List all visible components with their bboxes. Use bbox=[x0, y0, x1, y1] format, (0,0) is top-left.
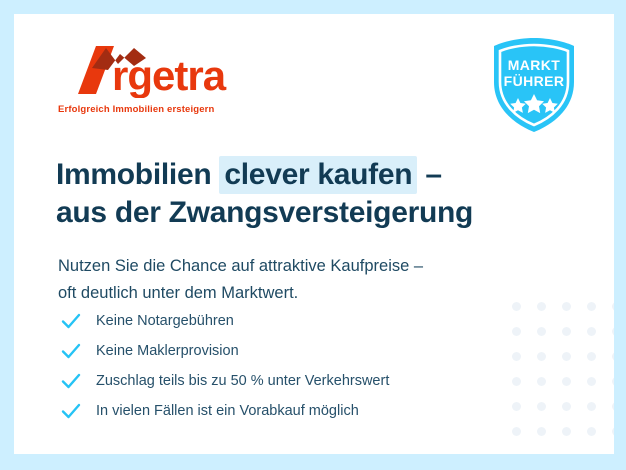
subheading-line-2: oft deutlich unter dem Marktwert. bbox=[58, 280, 578, 307]
argetra-logo-mark: rgetra bbox=[56, 42, 246, 98]
promo-frame: rgetra Erfolgreich Immobilien ersteigern… bbox=[0, 0, 626, 470]
dot bbox=[562, 327, 571, 336]
check-icon bbox=[60, 340, 82, 362]
headline-highlight: clever kaufen bbox=[219, 156, 417, 194]
dot bbox=[587, 302, 596, 311]
dot bbox=[562, 377, 571, 386]
list-item: In vielen Fällen ist ein Vorabkauf mögli… bbox=[60, 396, 520, 426]
dot bbox=[612, 327, 614, 336]
badge-line-2: FÜHRER bbox=[488, 74, 580, 90]
dot bbox=[612, 302, 614, 311]
dot bbox=[612, 427, 614, 436]
dot bbox=[537, 402, 546, 411]
dot bbox=[587, 327, 596, 336]
list-item-label: Keine Maklerprovision bbox=[96, 343, 239, 359]
dot bbox=[587, 377, 596, 386]
argetra-wordmark-icon: rgetra bbox=[56, 42, 246, 98]
subheading: Nutzen Sie die Chance auf attraktive Kau… bbox=[58, 253, 578, 307]
dot bbox=[512, 427, 521, 436]
dot bbox=[537, 427, 546, 436]
dot bbox=[612, 377, 614, 386]
dot bbox=[562, 352, 571, 361]
argetra-logo-tagline: Erfolgreich Immobilien ersteigern bbox=[58, 104, 214, 115]
list-item-label: In vielen Fällen ist ein Vorabkauf mögli… bbox=[96, 403, 359, 419]
promo-card: rgetra Erfolgreich Immobilien ersteigern… bbox=[14, 14, 614, 454]
check-icon bbox=[60, 400, 82, 422]
page-title: Immobilien clever kaufen – aus der Zwang… bbox=[56, 156, 556, 232]
check-icon bbox=[60, 370, 82, 392]
markt-fuehrer-badge: MARKT FÜHRER bbox=[488, 36, 580, 134]
benefits-list: Keine Notargebühren Keine Maklerprovisio… bbox=[60, 306, 520, 426]
dot bbox=[562, 427, 571, 436]
list-item: Keine Maklerprovision bbox=[60, 336, 520, 366]
dot bbox=[537, 352, 546, 361]
argetra-logo: rgetra Erfolgreich Immobilien ersteigern bbox=[56, 42, 246, 98]
dot bbox=[587, 352, 596, 361]
headline-pre: Immobilien bbox=[56, 158, 219, 191]
dot bbox=[587, 427, 596, 436]
dot bbox=[612, 352, 614, 361]
dot bbox=[537, 327, 546, 336]
list-item-label: Zuschlag teils bis zu 50 % unter Verkehr… bbox=[96, 373, 389, 389]
badge-text: MARKT FÜHRER bbox=[488, 58, 580, 89]
subheading-line-1: Nutzen Sie die Chance auf attraktive Kau… bbox=[58, 253, 578, 280]
dot bbox=[612, 402, 614, 411]
dot bbox=[562, 402, 571, 411]
check-icon bbox=[60, 310, 82, 332]
headline-post: – bbox=[417, 158, 441, 191]
headline-line-2: aus der Zwangsversteigerung bbox=[56, 194, 556, 232]
dot bbox=[537, 377, 546, 386]
list-item-label: Keine Notargebühren bbox=[96, 313, 234, 329]
list-item: Keine Notargebühren bbox=[60, 306, 520, 336]
list-item: Zuschlag teils bis zu 50 % unter Verkehr… bbox=[60, 366, 520, 396]
svg-text:rgetra: rgetra bbox=[112, 52, 227, 98]
badge-line-1: MARKT bbox=[488, 58, 580, 74]
dot bbox=[587, 402, 596, 411]
headline-line-1: Immobilien clever kaufen – bbox=[56, 156, 556, 194]
